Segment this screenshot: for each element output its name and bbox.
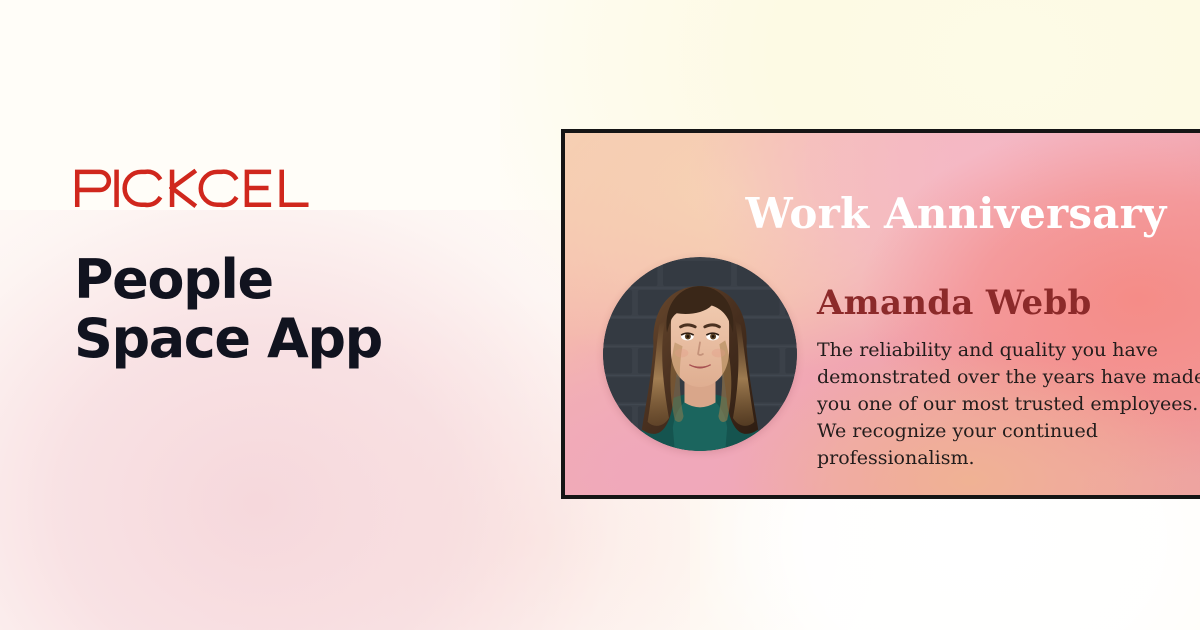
card-content: Work Anniversary <box>565 133 1200 495</box>
card-heading: Work Anniversary <box>565 189 1200 238</box>
work-anniversary-card: Work Anniversary <box>561 129 1200 499</box>
left-content-panel: People Space App <box>74 168 534 369</box>
page-title: People Space App <box>74 250 534 369</box>
avatar <box>603 257 797 451</box>
poster-canvas: People Space App Work Anniversary <box>0 0 1200 630</box>
card-text-block: Amanda Webb The reliability and quality … <box>817 283 1200 472</box>
employee-name: Amanda Webb <box>817 283 1200 323</box>
pickcel-wordmark-icon <box>74 168 332 208</box>
portrait-photo-icon <box>603 257 797 451</box>
congratulation-message: The reliability and quality you have dem… <box>817 337 1200 472</box>
